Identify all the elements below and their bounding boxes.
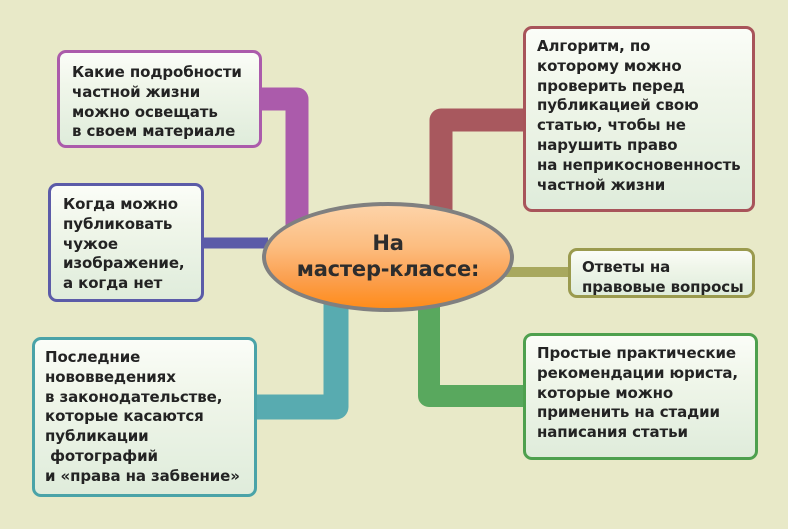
connector-practical-recommendations [429,298,529,396]
connector-private-life-details [256,99,297,225]
node-label-legislation-novelties: Последние нововведениях в законодательст… [35,340,254,487]
central-topic-node[interactable]: На мастер-классе: [262,202,514,312]
node-label-practical-recommendations: Простые практические рекомендации юриста… [526,336,755,443]
connector-verification-algorithm [441,120,529,218]
connector-legislation-novelties [251,297,336,407]
node-legislation-novelties[interactable]: Последние нововведениях в законодательст… [32,337,257,497]
node-label-legal-answers: Ответы на правовые вопросы [571,251,752,298]
node-legal-answers[interactable]: Ответы на правовые вопросы [568,248,755,298]
node-label-publish-foreign-image: Когда можно публиковать чужое изображени… [51,186,201,294]
node-label-private-life-details: Какие подробности частной жизни можно ос… [60,53,259,142]
central-topic-label: На мастер-классе: [297,231,480,282]
node-private-life-details[interactable]: Какие подробности частной жизни можно ос… [57,50,262,148]
node-label-verification-algorithm: Алгоритм, по которому можно проверить пе… [526,29,752,195]
node-publish-foreign-image[interactable]: Когда можно публиковать чужое изображени… [48,183,204,302]
node-practical-recommendations[interactable]: Простые практические рекомендации юриста… [523,333,758,460]
mindmap-canvas: На мастер-классе: Какие подробности част… [0,0,788,529]
node-verification-algorithm[interactable]: Алгоритм, по которому можно проверить пе… [523,26,755,212]
